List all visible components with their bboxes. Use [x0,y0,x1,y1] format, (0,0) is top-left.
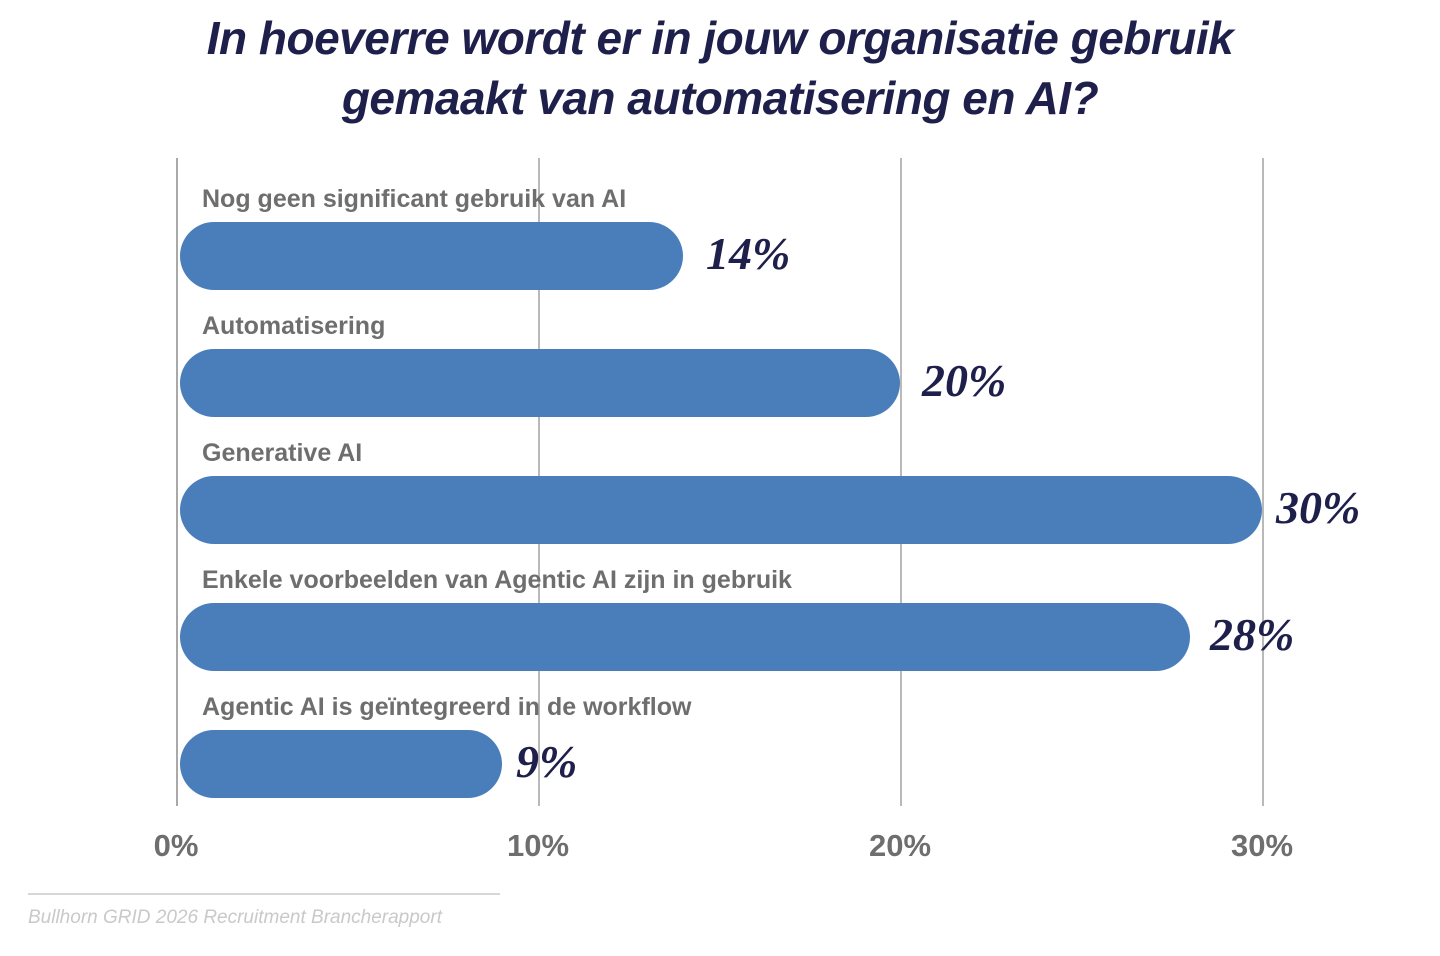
bar-category-label: Nog geen significant gebruik van AI [202,184,626,214]
chart-plot-area: Nog geen significant gebruik van AI 14% … [176,158,1262,806]
bar-shape[interactable] [180,222,683,290]
bar-row: Generative AI 30% [176,412,1440,539]
bar-value-label: 9% [516,726,577,798]
bar-value-label: 28% [1210,599,1294,671]
x-tick-label: 10% [507,828,569,864]
bar-row: Automatisering 20% [176,285,1440,412]
x-axis: 0% 10% 20% 30% [0,806,1440,876]
bar-value-label: 20% [922,345,1006,417]
bar-shape[interactable] [180,730,502,798]
bar-shape[interactable] [180,349,900,417]
bar-category-label: Enkele voorbeelden van Agentic AI zijn i… [202,565,792,595]
bar-shape[interactable] [180,603,1190,671]
bar-row: Agentic AI is geïntegreerd in de workflo… [176,666,1440,793]
page-title: In hoeverre wordt er in jouw organisatie… [40,8,1400,128]
x-tick-label: 0% [154,828,199,864]
bar-row: Enkele voorbeelden van Agentic AI zijn i… [176,539,1440,666]
footer: Bullhorn GRID 2026 Recruitment Branchera… [28,893,728,929]
bar-value-label: 30% [1276,472,1360,544]
x-tick-label: 20% [869,828,931,864]
source-caption: Bullhorn GRID 2026 Recruitment Branchera… [28,907,728,929]
footer-divider [28,893,500,895]
x-tick-label: 30% [1231,828,1293,864]
bar-value-label: 14% [706,218,790,290]
bar-row: Nog geen significant gebruik van AI 14% [176,158,1440,285]
bar-category-label: Automatisering [202,311,385,341]
bar-category-label: Agentic AI is geïntegreerd in de workflo… [202,692,691,722]
bar-shape[interactable] [180,476,1262,544]
bar-category-label: Generative AI [202,438,362,468]
